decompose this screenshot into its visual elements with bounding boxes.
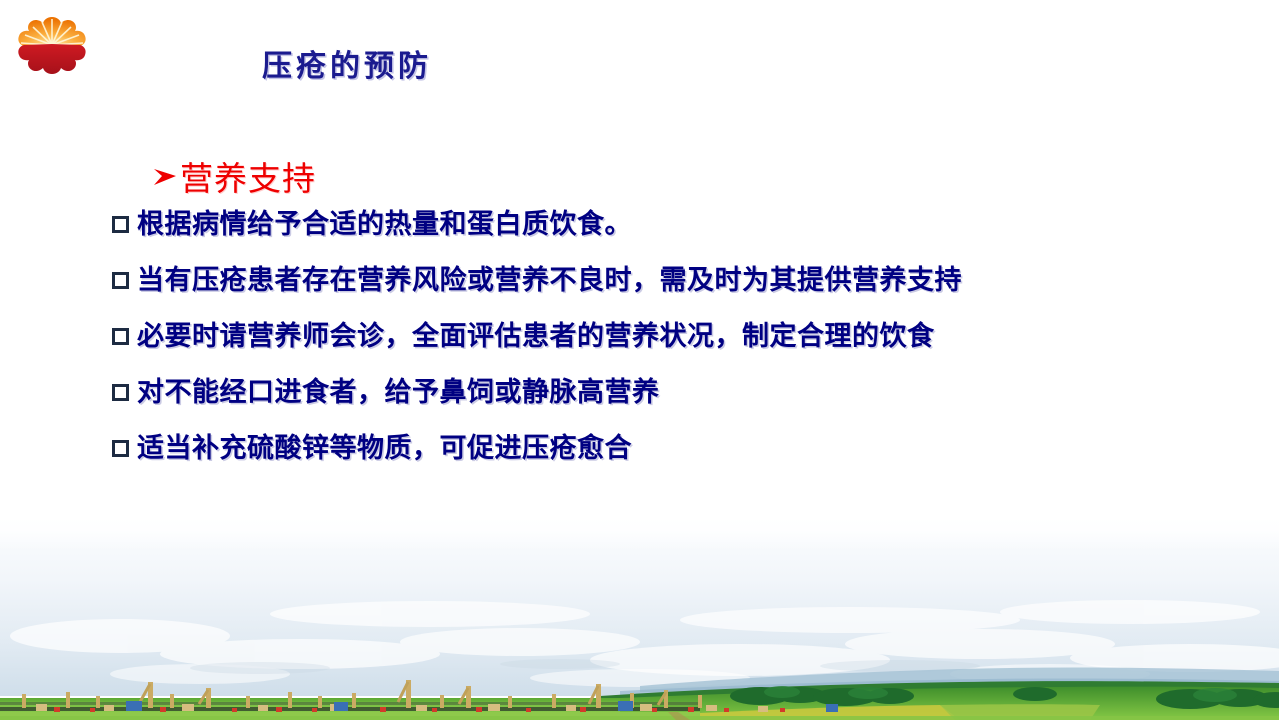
section-heading-label: 营养支持 <box>180 152 316 200</box>
list-item-label: 根据病情给予合适的热量和蛋白质饮食。 <box>137 205 632 244</box>
hollow-square-bullet-icon <box>112 272 129 289</box>
list-item: 适当补充硫酸锌等物质，可促进压疮愈合 <box>112 429 1232 485</box>
hollow-square-bullet-icon <box>112 328 129 345</box>
page-title: 压疮的预防 <box>262 41 432 85</box>
list-item-label: 适当补充硫酸锌等物质，可促进压疮愈合 <box>137 429 632 468</box>
hollow-square-bullet-icon <box>112 440 129 457</box>
list-item-label: 当有压疮患者存在营养风险或营养不良时，需及时为其提供营养支持 <box>137 261 962 300</box>
list-item-label: 必要时请营养师会诊，全面评估患者的营养状况，制定合理的饮食 <box>137 317 935 356</box>
oilfield-panorama-photo <box>0 516 1279 720</box>
list-item: 对不能经口进食者，给予鼻饲或静脉高营养 <box>112 373 1232 429</box>
hollow-square-bullet-icon <box>112 384 129 401</box>
slide-canvas: 压疮的预防 营养支持 根据病情给予合适的热量和蛋白质饮食。 当有压疮患者存在营养… <box>0 0 1279 720</box>
list-item: 根据病情给予合适的热量和蛋白质饮食。 <box>112 205 1232 261</box>
hollow-square-bullet-icon <box>112 216 129 233</box>
list-item: 必要时请营养师会诊，全面评估患者的营养状况，制定合理的饮食 <box>112 317 1232 373</box>
petrochina-cnpc-logo-icon <box>13 12 91 76</box>
arrow-right-bullet-icon <box>152 160 178 192</box>
list-item: 当有压疮患者存在营养风险或营养不良时，需及时为其提供营养支持 <box>112 261 1232 317</box>
section-heading: 营养支持 <box>152 152 316 200</box>
bullet-list: 根据病情给予合适的热量和蛋白质饮食。 当有压疮患者存在营养风险或营养不良时，需及… <box>112 205 1232 485</box>
list-item-label: 对不能经口进食者，给予鼻饲或静脉高营养 <box>137 373 660 412</box>
